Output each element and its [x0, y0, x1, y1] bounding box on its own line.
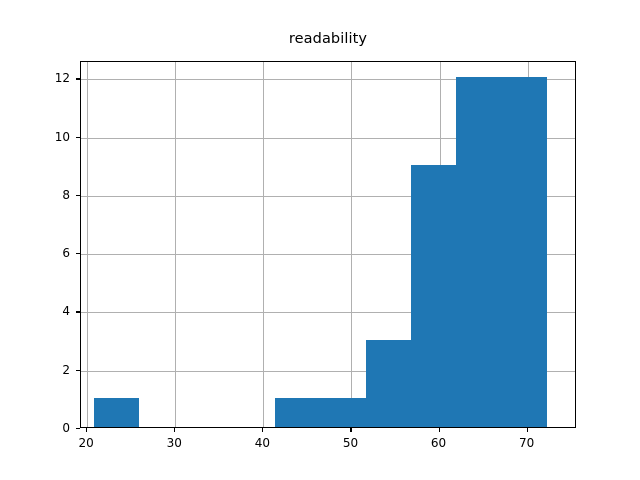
- x-axis-tick: [439, 428, 440, 432]
- y-axis-tick-label: 10: [26, 131, 70, 143]
- y-axis-tick: [76, 311, 80, 312]
- plot-area: [80, 61, 576, 428]
- histogram-bar: [366, 340, 412, 427]
- x-axis-tick: [86, 428, 87, 432]
- y-axis-tick: [76, 78, 80, 79]
- histogram-bar: [411, 165, 456, 427]
- x-axis-tick-label: 60: [409, 436, 469, 450]
- gridline-vertical: [175, 62, 176, 427]
- histogram-bar: [321, 398, 366, 427]
- histogram-bar: [94, 398, 139, 427]
- y-axis-tick: [76, 253, 80, 254]
- gridline-vertical: [263, 62, 264, 427]
- page-title: readability: [80, 30, 576, 48]
- histogram-bar: [275, 398, 321, 427]
- x-axis-tick: [527, 428, 528, 432]
- y-axis-tick-label: 0: [26, 422, 70, 434]
- histogram-bar: [456, 77, 502, 427]
- y-axis-tick-label: 6: [26, 247, 70, 259]
- matplotlib-figure: readability 024681012 203040506070: [0, 0, 640, 480]
- y-axis-tick: [76, 370, 80, 371]
- y-axis-tick-label: 2: [26, 364, 70, 376]
- x-axis-tick: [350, 428, 351, 432]
- x-axis-tick-label: 70: [497, 436, 557, 450]
- x-axis-tick-label: 50: [320, 436, 380, 450]
- y-axis-tick: [76, 137, 80, 138]
- x-axis-tick-label: 30: [144, 436, 204, 450]
- histogram-bar: [502, 77, 547, 427]
- gridline-vertical: [351, 62, 352, 427]
- y-axis-tick-label: 12: [26, 72, 70, 84]
- y-axis-tick: [76, 195, 80, 196]
- y-axis-tick-label: 8: [26, 189, 70, 201]
- x-axis-tick: [174, 428, 175, 432]
- x-axis-tick-label: 20: [56, 436, 116, 450]
- y-axis-tick: [76, 428, 80, 429]
- x-axis-tick-label: 40: [232, 436, 292, 450]
- x-axis-tick: [262, 428, 263, 432]
- y-axis-tick-label: 4: [26, 305, 70, 317]
- gridline-vertical: [87, 62, 88, 427]
